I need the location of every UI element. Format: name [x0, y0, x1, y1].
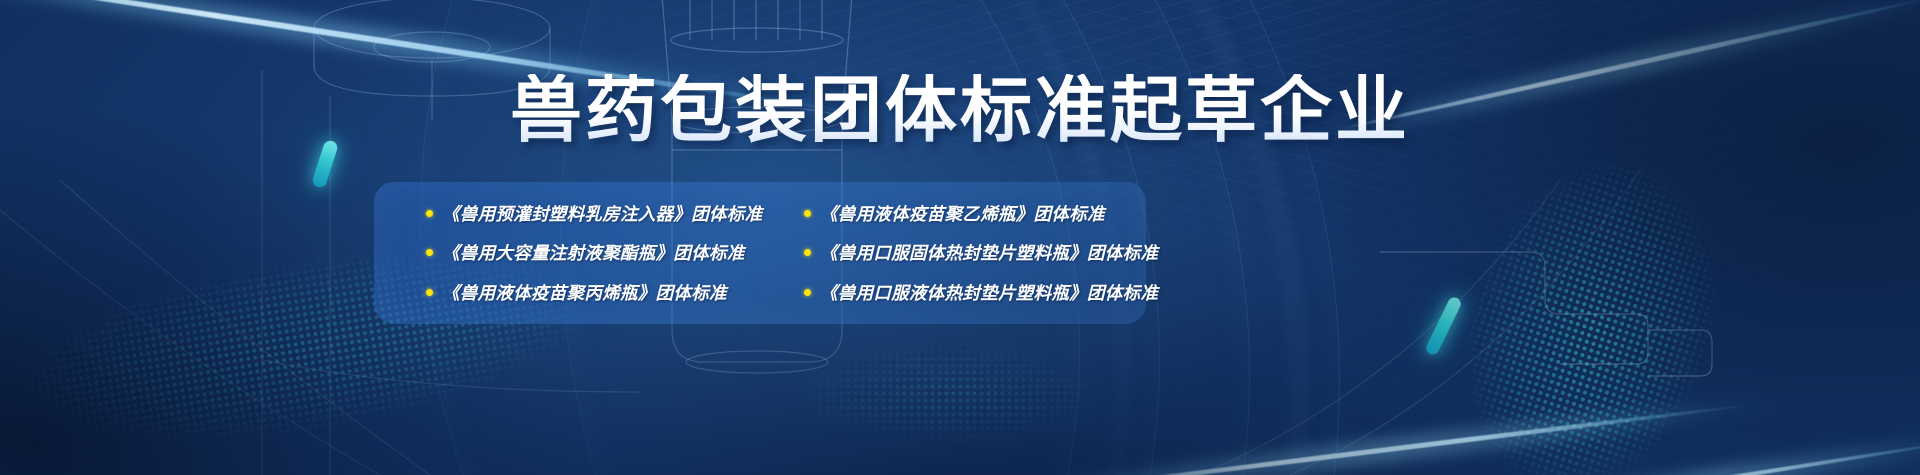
bullet-dot-icon	[426, 249, 433, 256]
list-item-label: 《兽用口服液体热封垫片塑料瓶》团体标准	[820, 280, 1158, 305]
bullet-dot-icon	[426, 289, 433, 296]
bullet-dot-icon	[804, 249, 811, 256]
list-item: 《兽用液体疫苗聚乙烯瓶》团体标准	[804, 201, 1216, 226]
list-item: 《兽用口服液体热封垫片塑料瓶》团体标准	[804, 280, 1216, 305]
standards-list: 《兽用预灌封塑料乳房注入器》团体标准 《兽用液体疫苗聚乙烯瓶》团体标准 《兽用大…	[374, 182, 1164, 324]
promo-banner: 兽药包装团体标准起草企业 《兽用预灌封塑料乳房注入器》团体标准 《兽用液体疫苗聚…	[0, 0, 1920, 475]
list-item: 《兽用预灌封塑料乳房注入器》团体标准	[426, 201, 804, 226]
banner-content: 兽药包装团体标准起草企业 《兽用预灌封塑料乳房注入器》团体标准 《兽用液体疫苗聚…	[0, 0, 1920, 475]
list-item: 《兽用大容量注射液聚酯瓶》团体标准	[426, 240, 804, 265]
bullet-dot-icon	[426, 210, 433, 217]
list-item-label: 《兽用口服固体热封垫片塑料瓶》团体标准	[820, 240, 1158, 265]
page-title: 兽药包装团体标准起草企业	[0, 74, 1920, 150]
bullet-dot-icon	[804, 210, 811, 217]
list-item: 《兽用口服固体热封垫片塑料瓶》团体标准	[804, 240, 1216, 265]
bullet-dot-icon	[804, 289, 811, 296]
list-item-label: 《兽用液体疫苗聚乙烯瓶》团体标准	[820, 201, 1105, 226]
list-item-label: 《兽用大容量注射液聚酯瓶》团体标准	[442, 240, 745, 265]
list-item-label: 《兽用液体疫苗聚丙烯瓶》团体标准	[442, 280, 727, 305]
list-item: 《兽用液体疫苗聚丙烯瓶》团体标准	[426, 280, 804, 305]
list-item-label: 《兽用预灌封塑料乳房注入器》团体标准	[442, 201, 762, 226]
